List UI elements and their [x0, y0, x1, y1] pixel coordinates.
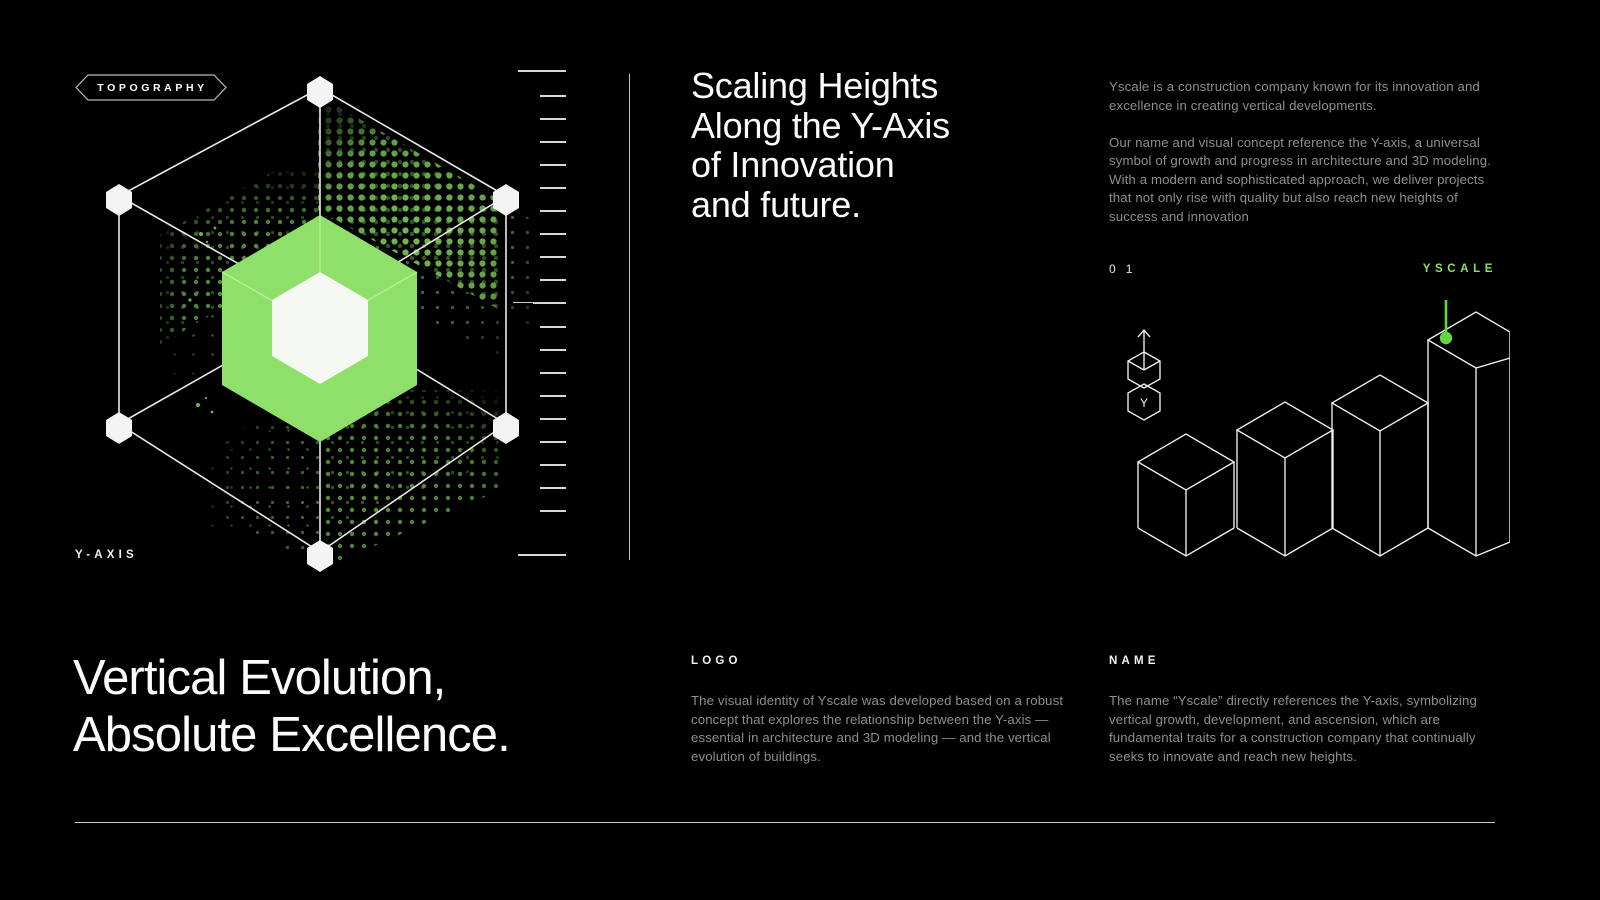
ruler-tick [540, 256, 566, 258]
bottom-headline-line: Absolute Excellence. [73, 707, 693, 764]
bottom-headline-line: Vertical Evolution, [73, 650, 693, 707]
chart-bar-3 [1332, 375, 1428, 556]
ruler-tick [540, 395, 566, 397]
headline-line: and future. [691, 185, 1031, 225]
index-row: 0 1 YSCALE [1109, 262, 1497, 276]
brand-wordmark: YSCALE [1423, 263, 1497, 275]
ruler-tick [540, 349, 566, 351]
ruler-tick [540, 118, 566, 120]
isometric-bar-chart-icon: Y [1100, 300, 1510, 565]
y-axis-label: Y-AXIS [75, 549, 138, 561]
ruler-connector-line [513, 302, 549, 303]
isometric-hexagon-cube-icon [70, 60, 550, 580]
chart-bar-4 [1428, 312, 1510, 556]
hero-isometric-figure [70, 60, 550, 580]
bottom-divider [75, 822, 1495, 823]
ruler-tick [540, 510, 566, 512]
logo-block-body: The visual identity of Yscale was develo… [691, 692, 1071, 766]
isometric-bar-chart: Y [1100, 300, 1510, 565]
intro-copy: Yscale is a construction company known f… [1109, 78, 1501, 227]
headline-line: Scaling Heights [691, 66, 1031, 106]
poster-canvas: TOPOGRAPHY [0, 0, 1600, 900]
ruler-tick [540, 95, 566, 97]
ruler-tick-long-top [518, 70, 566, 72]
intro-paragraph: Our name and visual concept reference th… [1109, 134, 1501, 227]
intro-paragraph: Yscale is a construction company known f… [1109, 78, 1501, 115]
ruler-tick [540, 279, 566, 281]
y-axis-badge-letter: Y [1140, 396, 1148, 410]
logo-block: LOGO The visual identity of Yscale was d… [691, 655, 1071, 766]
ruler-tick [540, 141, 566, 143]
ruler-tick [540, 487, 566, 489]
ruler-tick [540, 372, 566, 374]
name-block-eyebrow: NAME [1109, 655, 1499, 667]
ruler-tick [540, 187, 566, 189]
ruler-tick [540, 164, 566, 166]
name-block-body: The name “Yscale” directly references th… [1109, 692, 1499, 766]
ruler-tick [540, 210, 566, 212]
page-title: Scaling Heights Along the Y-Axis of Inno… [691, 66, 1031, 224]
section-number: 0 1 [1109, 262, 1136, 276]
ruler-tick [540, 441, 566, 443]
headline-line: of Innovation [691, 145, 1031, 185]
bottom-headline: Vertical Evolution, Absolute Excellence. [73, 650, 693, 764]
vertical-scale-ruler [516, 70, 566, 560]
ruler-tick [540, 233, 566, 235]
chart-bar-2 [1237, 402, 1333, 556]
ruler-tick [540, 464, 566, 466]
ruler-tick [540, 418, 566, 420]
chart-highlight-marker [1440, 300, 1452, 344]
headline-line: Along the Y-Axis [691, 106, 1031, 146]
name-block: NAME The name “Yscale” directly referenc… [1109, 655, 1499, 766]
vertical-divider [629, 74, 630, 560]
logo-block-eyebrow: LOGO [691, 655, 1071, 667]
ruler-tick-long-bottom [518, 554, 566, 556]
chart-bar-1 [1138, 434, 1234, 556]
ruler-tick [540, 326, 566, 328]
